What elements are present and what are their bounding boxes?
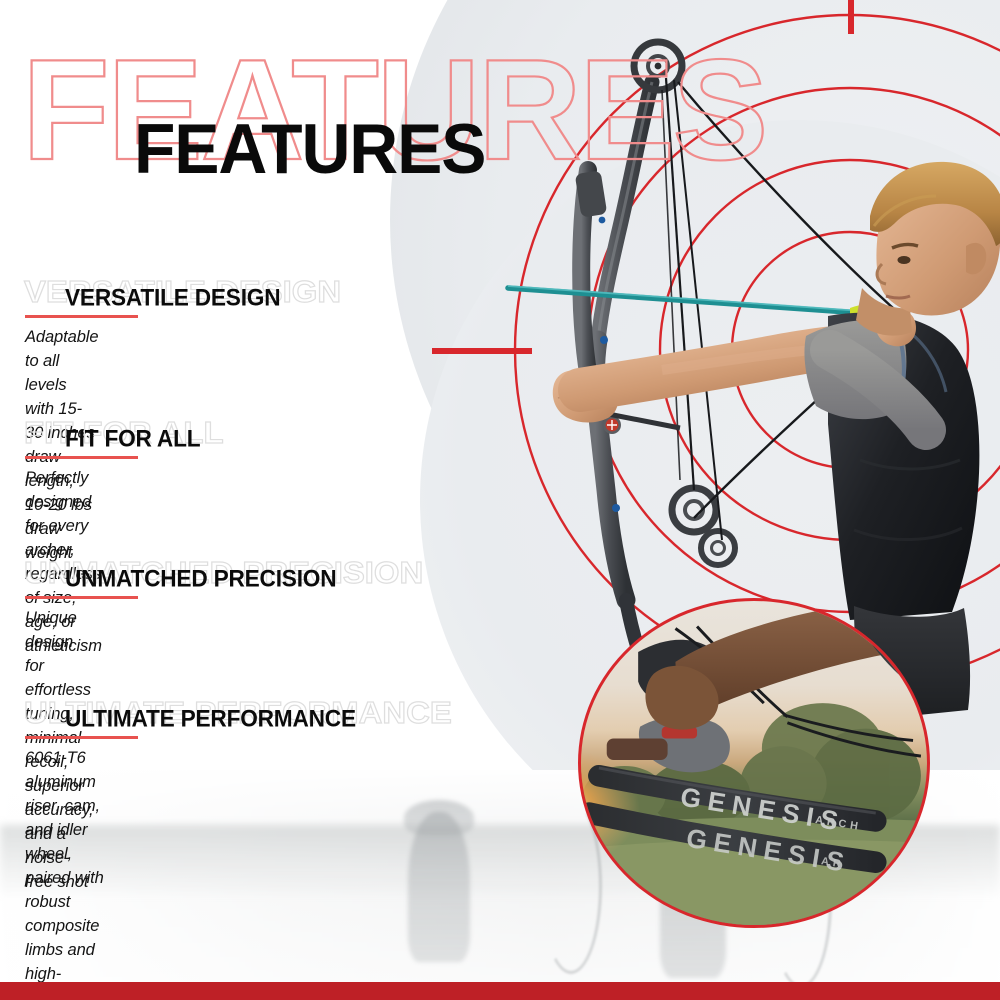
features-list: VERSATILE DESIGN VERSATILE DESIGN Adapta…: [0, 0, 1000, 1000]
feature-title: ULTIMATE PERFORMANCE: [65, 705, 356, 733]
bottom-accent-bar: [0, 982, 1000, 1000]
feature-title: VERSATILE DESIGN: [65, 284, 280, 312]
feature-underline: [25, 456, 138, 459]
feature-title: UNMATCHED PRECISION: [65, 565, 336, 593]
feature-underline: [25, 596, 138, 599]
feature-infographic-poster: GENESIS ARCH GENESIS AR FEATURES FEATURE…: [0, 0, 1000, 1000]
feature-underline: [25, 736, 138, 739]
feature-underline: [25, 315, 138, 318]
feature-title: FIT FOR ALL: [65, 425, 200, 453]
feature-body: 6061-T6 aluminum riser, cam, and idler w…: [25, 746, 106, 1000]
